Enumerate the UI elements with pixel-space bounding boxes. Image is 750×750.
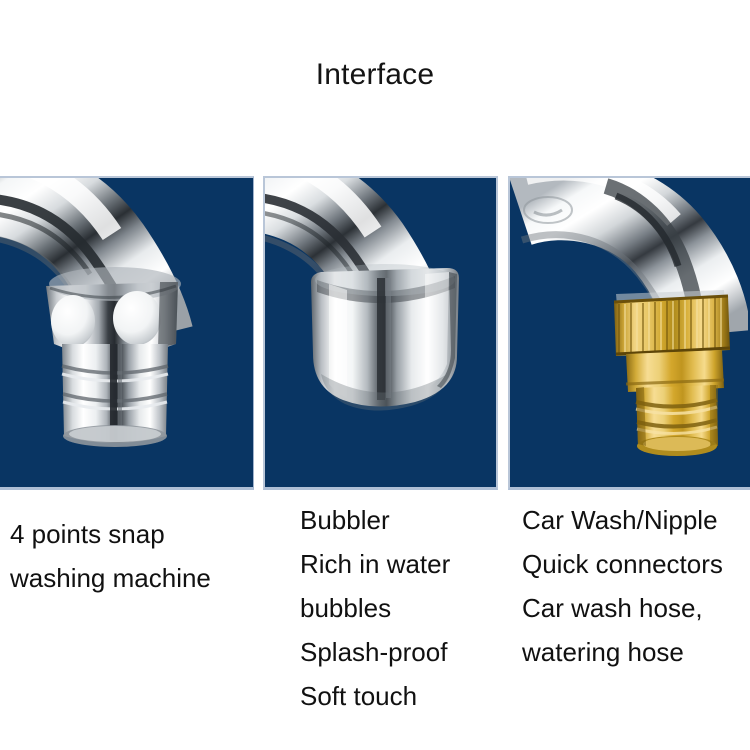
caption-column-snap: 4 points snap washing machine [10,512,211,600]
caption-line: Splash-proof [300,630,450,674]
caption-line: watering hose [522,630,723,674]
product-image: Interface [0,0,750,750]
caption-line: bubbles [300,586,450,630]
caption-line: Quick connectors [522,542,723,586]
product-panel-snap [0,176,254,490]
caption-line: Soft touch [300,674,450,718]
caption-line: Bubbler [300,498,450,542]
snap-button-right [113,291,161,345]
product-panel-nipple [508,176,750,490]
snap-button-left [51,295,95,347]
caption-line: Rich in water [300,542,450,586]
caption-line: 4 points snap [10,512,211,556]
bubbler-illustration [265,178,496,487]
page-title: Interface [0,56,750,94]
caption-line: Car Wash/Nipple [522,498,723,542]
snap-connector-illustration [0,178,254,490]
panel-strip [0,176,750,490]
caption-column-bubbler: Bubbler Rich in water bubbles Splash-pro… [300,498,450,718]
caption-line: washing machine [10,556,211,600]
brass-quick-connector-illustration [510,178,748,487]
caption-column-nipple: Car Wash/Nipple Quick connectors Car was… [522,498,723,674]
product-panel-bubbler [263,176,498,490]
caption-line: Car wash hose, [522,586,723,630]
